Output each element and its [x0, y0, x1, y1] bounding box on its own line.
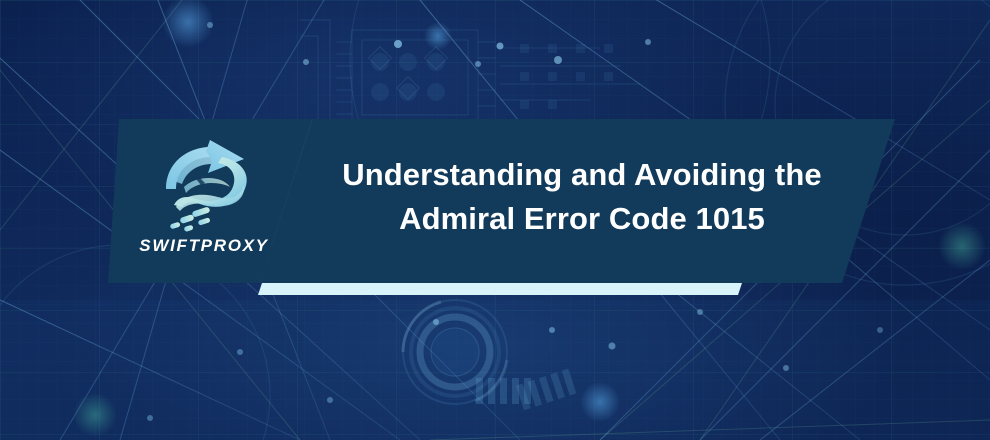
page-title: Understanding and Avoiding the Admiral E…	[322, 153, 842, 241]
accent-bar	[0, 283, 990, 295]
page-title-line-1: Understanding and Avoiding the	[322, 153, 842, 197]
title-banner: SWIFTPROXY Understanding and Avoiding th…	[0, 119, 990, 283]
brand-wordmark: SWIFTPROXY	[139, 236, 268, 256]
accent-bar-shape	[0, 283, 990, 295]
swift-arrow-s-logo-icon	[152, 137, 256, 233]
brand-logo: SWIFTPROXY	[130, 137, 278, 265]
page-title-line-2: Admiral Error Code 1015	[322, 197, 842, 241]
banner-screenshot: SWIFTPROXY Understanding and Avoiding th…	[0, 0, 990, 440]
